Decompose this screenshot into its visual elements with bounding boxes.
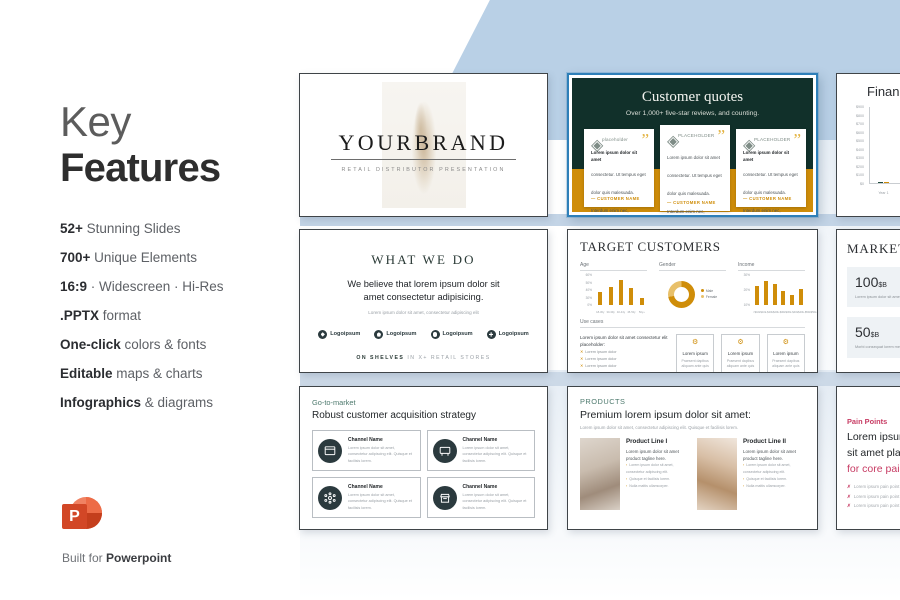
financial-title: Financial	[867, 84, 900, 99]
gender-legend-swatch	[701, 295, 704, 298]
target-card-text: Praesent dapibus aliquam ante quis	[771, 359, 801, 370]
target-gender-label: Gender	[659, 262, 726, 271]
age-x-label: 45-50y	[626, 311, 636, 314]
income-bar	[755, 286, 759, 305]
financial-bar-chart: $900$800$700$600$500$400$300$200$100$0 Y…	[845, 107, 900, 198]
products-kicker: PRODUCTS	[580, 397, 805, 406]
income-bar	[773, 284, 777, 305]
age-bar	[598, 292, 602, 305]
market-stat-box: 50$BMorbi consequat lorem metus ut effic…	[847, 317, 900, 357]
target-usecase-text: Lorem ipsum dolor sit amet consectetur e…	[580, 334, 668, 373]
quote-logo-label: PLACEHOLDER	[754, 137, 790, 142]
income-y-tick: 30%	[744, 273, 750, 277]
wwd-footer: ON SHELVES IN X+ RETAIL STORES	[300, 355, 547, 361]
financial-bar	[884, 182, 889, 183]
slide-thumbnail-what-we-do[interactable]: WHAT WE DO We believe that lorem ipsum d…	[299, 229, 548, 373]
painpoint-bullet-label: Lorem ipsum pain point	[854, 503, 900, 508]
slide-thumbnail-products[interactable]: PRODUCTS Premium lorem ipsum dolor sit a…	[567, 386, 818, 530]
target-usecase-bullet-icon: ✕	[580, 364, 583, 368]
target-age-block: Age 60%50%40%30%0% 18-30y30-39y40-44y45-…	[580, 262, 647, 313]
gtm-channel-card: Channel NameLorem ipsum dolor sit amet, …	[312, 477, 421, 518]
financial-y-tick: $400	[856, 148, 864, 152]
target-usecases-label: Use cases	[580, 319, 805, 328]
market-stat-number: 50$B	[855, 324, 900, 340]
gtm-channel-card: Channel NameLorem ipsum dolor sit amet, …	[312, 430, 421, 471]
income-bars	[753, 277, 805, 305]
target-usecase-item-label: Lorem ipsum dolor	[585, 364, 616, 368]
feature-item-bold-4: One-click	[60, 337, 121, 352]
income-x-label: <$10k	[753, 311, 760, 314]
wwd-logo-icon	[374, 330, 383, 339]
product-bullet-icon: ›	[743, 463, 744, 467]
gtm-card-name: Channel Name	[463, 484, 530, 490]
target-usecase-item: ✕Lorem ipsum dolor	[580, 363, 668, 370]
product-bullet-label: Quisque et facilisis lorem.	[746, 477, 787, 481]
age-y-tick: 0%	[587, 303, 592, 307]
income-x-label: $20k-$30k	[773, 311, 786, 314]
income-x-label: $10k-$20k	[760, 311, 773, 314]
age-y-tick: 30%	[586, 296, 592, 300]
income-bar	[764, 281, 768, 305]
income-x-label: $40k-$50k	[798, 311, 811, 314]
income-y-tick: 20%	[744, 288, 750, 292]
powerpoint-badge: P Built for Powerpoint	[62, 497, 171, 565]
powerpoint-icon: P	[62, 497, 102, 537]
target-usecase-card: ⚙Lorem ipsumPraesent dapibus aliquam ant…	[721, 334, 759, 373]
income-x-label: $50k+	[811, 311, 818, 314]
gtm-card-text: Channel NameLorem ipsum dolor sit amet, …	[463, 484, 530, 511]
painpoints-title-a: Lorem ipsum dolor	[847, 430, 900, 446]
product-bullet-label: Lorem ipsum dolor sit amet, consectetur …	[743, 463, 791, 474]
wwd-lead-line-2: amet consectetur adipisicing.	[300, 291, 547, 304]
painpoint-bullet-label: Lorem ipsum pain point	[854, 484, 900, 489]
wwd-logo-row: LogoipsumLogoipsumLogoipsumLogoipsum	[300, 330, 547, 339]
wwd-logo-label: Logoipsum	[499, 331, 529, 337]
product-tagline: Lorem ipsum dolor sit amet product tagli…	[743, 448, 805, 462]
quote-card-strong: Lorem ipsum dolor sit amet	[591, 150, 647, 163]
age-x-label: 30-39y	[605, 311, 615, 314]
age-bar-chart: 60%50%40%30%0% 18-30y30-39y40-44y45-50y5…	[580, 275, 647, 313]
quote-logo-icon: ◈	[743, 135, 751, 143]
age-y-axis: 60%50%40%30%0%	[580, 275, 593, 305]
powerpoint-caption-plain: Built for	[62, 551, 106, 565]
target-income-label: Income	[738, 262, 805, 271]
feature-item-0: 52+ Stunning Slides	[60, 222, 300, 236]
product-bullet-label: Lorem ipsum dolor sit amet, consectetur …	[626, 463, 674, 474]
slide-thumbnail-go-to-market[interactable]: Go-to-market Robust customer acquisition…	[299, 386, 548, 530]
market-stat-box: 100$BLorem ipsum dolor sit amet, consect…	[847, 267, 900, 307]
market-stat-unit: $B	[871, 332, 880, 339]
gtm-card-name: Channel Name	[348, 484, 415, 490]
wwd-logo-item: Logoipsum	[374, 330, 416, 339]
product-bullet-icon: ›	[626, 463, 627, 467]
market-stat-unit: $B	[878, 282, 887, 289]
gtm-card-desc: Lorem ipsum dolor sit amet, consectetur …	[463, 492, 530, 511]
wwd-logo-icon	[431, 330, 440, 339]
slide-thumbnail-financial[interactable]: Financial $900$800$700$600$500$400$300$2…	[836, 73, 900, 217]
wwd-lead-line-1: We believe that lorem ipsum dolor sit	[300, 278, 547, 291]
browser-icon	[318, 439, 342, 463]
painpoint-bullet-icon: ✗	[847, 484, 851, 489]
target-title: TARGET CUSTOMERS	[580, 239, 805, 255]
painpoint-bullet: ✗Lorem ipsum pain point	[847, 501, 900, 510]
title-line-features: Features	[60, 146, 220, 190]
wwd-logo-icon	[318, 330, 327, 339]
product-bullet: ›Quisque et facilisis lorem.	[743, 476, 805, 483]
feature-item-rest-6: & diagrams	[141, 395, 213, 410]
target-usecase-item-label: Lorem ipsum dolor	[585, 350, 616, 354]
gtm-kicker: Go-to-market	[312, 398, 535, 407]
left-info-panel: Key Features 52+ Stunning Slides700+ Uni…	[0, 0, 300, 600]
wwd-logo-label: Logoipsum	[443, 331, 473, 337]
painpoint-bullet-icon: ✗	[847, 494, 851, 499]
gender-donut	[668, 281, 695, 308]
quote-logo-icon: ◈	[667, 131, 675, 139]
product-image	[697, 438, 737, 510]
income-bar	[790, 295, 794, 305]
target-gender-block: Gender MaleFemale	[659, 262, 726, 313]
wwd-footer-bold: ON SHELVES	[356, 355, 404, 361]
target-usecase-bullet-icon: ✕	[580, 350, 583, 354]
wwd-logo-label: Logoipsum	[386, 331, 416, 337]
feature-item-rest-3: format	[99, 308, 141, 323]
target-usecases-row: Lorem ipsum dolor sit amet consectetur e…	[580, 334, 805, 373]
painpoint-bullet-icon: ✗	[847, 503, 851, 508]
target-usecase-card: ⚙Lorem ipsumPraesent dapibus aliquam ant…	[767, 334, 805, 373]
powerpoint-icon-letter: P	[62, 504, 87, 529]
age-y-tick: 40%	[586, 288, 592, 292]
gtm-title: Robust customer acquisition strategy	[312, 410, 535, 421]
financial-y-tick: $0	[860, 182, 864, 186]
product-bullet: ›Nulla mattis ullamcorper.	[626, 483, 688, 490]
product-item: Product Line IILorem ipsum dolor sit ame…	[697, 438, 805, 510]
financial-bar-group: Year 1	[878, 182, 889, 183]
painpoints-kicker: Pain Points	[847, 417, 900, 426]
painpoints-title: Lorem ipsum dolor sit amet placeholder f…	[847, 430, 900, 477]
product-item: Product Line ILorem ipsum dolor sit amet…	[580, 438, 688, 510]
gender-legend-item: Female	[701, 294, 717, 300]
market-stat-text: Lorem ipsum dolor sit amet, consectetur …	[855, 294, 900, 300]
target-card-text: Praesent dapibus aliquam ante quis	[725, 359, 755, 370]
quote-card-logo: ◈PLACEHOLDER	[743, 135, 799, 143]
store-icon	[433, 486, 457, 510]
quote-card-list: ◈placeholder”Lorem ipsum dolor sit ametc…	[584, 125, 801, 210]
quote-card-customer: — CUSTOMER NAME	[743, 196, 792, 201]
age-y-tick: 50%	[586, 281, 592, 285]
wwd-small-text: Lorem ipsum dolor sit amet, consectetur …	[300, 310, 547, 315]
painpoints-title-c: for core pains	[847, 462, 900, 478]
market-stat-text: Morbi consequat lorem metus ut efficitur…	[855, 344, 900, 350]
income-x-label: $30k-$40k	[786, 311, 799, 314]
quote-logo-label: placeholder	[602, 137, 628, 142]
gtm-card-text: Channel NameLorem ipsum dolor sit amet, …	[463, 437, 530, 464]
gtm-card-name: Channel Name	[463, 437, 530, 443]
income-bar	[781, 291, 785, 305]
age-x-label: 50y+	[637, 311, 647, 314]
wwd-logo-item: Logoipsum	[318, 330, 360, 339]
gtm-card-text: Channel NameLorem ipsum dolor sit amet, …	[348, 484, 415, 511]
powerpoint-caption: Built for Powerpoint	[62, 551, 171, 565]
brand-divider	[331, 159, 516, 160]
age-bar	[619, 280, 623, 305]
market-title: MARKET	[847, 241, 900, 257]
quote-card-logo: ◈PLACEHOLDER	[667, 131, 723, 139]
quote-card: ◈PLACEHOLDER”Lorem ipsum dolor sit ametc…	[736, 129, 806, 207]
gtm-channel-card: Channel NameLorem ipsum dolor sit amet, …	[427, 430, 536, 471]
wwd-footer-rest: IN X+ RETAIL STORES	[404, 355, 490, 361]
quotes-title: Customer quotes	[572, 89, 813, 106]
age-bar	[609, 287, 613, 305]
quote-card: ◈PLACEHOLDER”Lorem ipsum dolor sit amet …	[660, 125, 730, 211]
target-usecase-item: ✕Lorem ipsum dolor	[580, 356, 668, 363]
feature-item-bold-6: Infographics	[60, 395, 141, 410]
feature-item-rest-1: Unique Elements	[90, 250, 197, 265]
quote-card-body: Lorem ipsum dolor sit amet consectetur. …	[667, 146, 723, 217]
product-name: Product Line II	[743, 438, 805, 445]
gtm-card-desc: Lorem ipsum dolor sit amet, consectetur …	[348, 492, 415, 511]
target-card-icon: ⚙	[771, 339, 801, 346]
feature-item-rest-4: colors & fonts	[121, 337, 207, 352]
income-y-axis: 30%20%10%	[738, 275, 751, 305]
income-y-tick: 10%	[744, 303, 750, 307]
gender-legend-label: Male	[706, 289, 713, 293]
target-usecase-items: ✕Lorem ipsum dolor✕Lorem ipsum dolor✕Lor…	[580, 349, 668, 371]
product-name: Product Line I	[626, 438, 688, 445]
slide-thumbnail-market[interactable]: MARKET 100$BLorem ipsum dolor sit amet, …	[836, 229, 900, 373]
quotes-subtitle: Over 1,000+ five-star reviews, and count…	[572, 110, 813, 117]
painpoints-bullets: ✗Lorem ipsum pain point✗Lorem ipsum pain…	[847, 482, 900, 510]
target-usecase-heading: Lorem ipsum dolor sit amet consectetur e…	[580, 334, 668, 349]
feature-item-6: Infographics & diagrams	[60, 396, 300, 410]
income-x-labels: <$10k$10k-$20k$20k-$30k$30k-$40k$40k-$50…	[753, 311, 805, 314]
financial-y-tick: $600	[856, 131, 864, 135]
products-subtitle: Lorem ipsum dolor sit amet, consectetur …	[580, 425, 805, 430]
wwd-lead: We believe that lorem ipsum dolor sit am…	[300, 278, 547, 305]
brand-title: YOURBRAND	[300, 130, 547, 156]
billboard-icon	[433, 439, 457, 463]
target-card-icon: ⚙	[680, 339, 710, 346]
products-title: Premium lorem ipsum dolor sit amet:	[580, 409, 805, 421]
target-card-title: Lorem ipsum	[771, 351, 801, 356]
financial-bar	[878, 182, 883, 183]
painpoint-bullet: ✗Lorem ipsum pain point	[847, 482, 900, 491]
financial-y-tick: $900	[856, 105, 864, 109]
product-line-row: Product Line ILorem ipsum dolor sit amet…	[580, 438, 805, 510]
slide-thumbnail-pain-points[interactable]: Pain Points Lorem ipsum dolor sit amet p…	[836, 386, 900, 530]
product-bullet-label: Nulla mattis ullamcorper.	[629, 484, 668, 488]
target-chart-row: Age 60%50%40%30%0% 18-30y30-39y40-44y45-…	[580, 262, 805, 313]
income-bar-chart: 30%20%10% <$10k$10k-$20k$20k-$30k$30k-$4…	[738, 275, 805, 313]
product-bullet: ›Lorem ipsum dolor sit amet, consectetur…	[626, 462, 688, 476]
slide-thumbnail-target-customers[interactable]: TARGET CUSTOMERS Age 60%50%40%30%0% 18-3…	[567, 229, 818, 373]
feature-item-rest-0: Stunning Slides	[83, 221, 181, 236]
target-usecase-bullet-icon: ✕	[580, 357, 583, 361]
quote-card-body: Lorem ipsum dolor sit ametconsectetur. U…	[743, 150, 799, 217]
target-usecase-item: ✕Lorem ipsum dolor	[580, 349, 668, 356]
quote-card-text: consectetur. Ut tempus eget dolor quis m…	[591, 172, 646, 217]
financial-y-axis: $900$800$700$600$500$400$300$200$100$0	[845, 107, 867, 184]
slide-thumbnail-yourbrand[interactable]: YOURBRAND RETAIL DISTRIBUTOR PRESENTATIO…	[299, 73, 548, 217]
gtm-card-desc: Lorem ipsum dolor sit amet, consectetur …	[463, 445, 530, 464]
target-usecase-card: ⚙Lorem ipsumPraesent dapibus aliquam ant…	[676, 334, 714, 373]
age-x-label: 18-30y	[595, 311, 605, 314]
financial-x-label: Year 1	[878, 191, 888, 195]
feature-item-rest-5: maps & charts	[113, 366, 203, 381]
market-stat-number: 100$B	[855, 274, 900, 290]
income-bar	[799, 289, 803, 305]
financial-y-tick: $500	[856, 139, 864, 143]
gtm-channel-grid: Channel NameLorem ipsum dolor sit amet, …	[312, 430, 535, 518]
painpoints-title-b: sit amet placeholder	[847, 446, 900, 462]
gtm-card-name: Channel Name	[348, 437, 415, 443]
wwd-logo-label: Logoipsum	[330, 331, 360, 337]
gtm-card-text: Channel NameLorem ipsum dolor sit amet, …	[348, 437, 415, 464]
quote-card-customer: — CUSTOMER NAME	[591, 196, 640, 201]
financial-y-tick: $100	[856, 173, 864, 177]
feature-item-bold-2: 16:9	[60, 279, 87, 294]
wwd-logo-item: Logoipsum	[431, 330, 473, 339]
feature-item-bold-3: .PPTX	[60, 308, 99, 323]
quote-card-logo: ◈placeholder	[591, 135, 647, 143]
age-x-label: 40-44y	[616, 311, 626, 314]
age-x-labels: 18-30y30-39y40-44y45-50y50y+	[595, 311, 647, 314]
title-line-key: Key	[60, 100, 220, 144]
painpoint-bullet: ✗Lorem ipsum pain point	[847, 492, 900, 501]
gender-legend-label: Female	[706, 295, 717, 299]
financial-y-tick: $800	[856, 114, 864, 118]
target-card-icon: ⚙	[725, 339, 755, 346]
age-bar	[629, 288, 633, 305]
age-bars	[595, 277, 647, 305]
product-tagline: Lorem ipsum dolor sit amet product tagli…	[626, 448, 688, 462]
quote-card-customer: — CUSTOMER NAME	[667, 200, 716, 205]
product-bullet: ›Nulla mattis ullamcorper.	[743, 483, 805, 490]
age-y-tick: 60%	[586, 273, 592, 277]
gender-legend: MaleFemale	[701, 288, 717, 301]
product-bullet-icon: ›	[626, 477, 627, 481]
feature-item-rest-2: · Widescreen · Hi-Res	[87, 279, 224, 294]
quote-mark-icon: ”	[641, 131, 649, 148]
financial-plot-area: Year 1Year 2Year 3Year 4	[869, 107, 900, 184]
quote-logo-icon: ◈	[591, 135, 599, 143]
feature-item-bold-5: Editable	[60, 366, 113, 381]
product-bullet-label: Quisque et facilisis lorem.	[629, 477, 670, 481]
product-bullet-icon: ›	[626, 484, 627, 488]
target-usecase-item-label: Lorem ipsum dolor	[585, 357, 616, 361]
wwd-logo-item: Logoipsum	[487, 330, 529, 339]
feature-item-1: 700+ Unique Elements	[60, 251, 300, 265]
feature-item-5: Editable maps & charts	[60, 367, 300, 381]
quote-mark-icon: ”	[793, 131, 801, 148]
target-card-text: Praesent dapibus aliquam ante quis	[680, 359, 710, 370]
quote-mark-icon: ”	[717, 127, 725, 144]
gtm-channel-card: Channel NameLorem ipsum dolor sit amet, …	[427, 477, 536, 518]
slide-thumbnail-customer-quotes[interactable]: Customer quotes Over 1,000+ five-star re…	[567, 73, 818, 217]
feature-item-bold-0: 52+	[60, 221, 83, 236]
wwd-title: WHAT WE DO	[300, 252, 547, 268]
feature-item-4: One-click colors & fonts	[60, 338, 300, 352]
brand-subtitle: RETAIL DISTRIBUTOR PRESENTATION	[300, 167, 547, 173]
quote-card-text: Lorem ipsum dolor sit amet consectetur. …	[667, 155, 722, 217]
page-title: Key Features	[60, 100, 220, 190]
feature-item-3: .PPTX format	[60, 309, 300, 323]
feature-item-2: 16:9 · Widescreen · Hi-Res	[60, 280, 300, 294]
target-income-block: Income 30%20%10% <$10k$10k-$20k$20k-$30k…	[738, 262, 805, 313]
target-card-title: Lorem ipsum	[680, 351, 710, 356]
quote-card: ◈placeholder”Lorem ipsum dolor sit ametc…	[584, 129, 654, 207]
product-bullet: ›Lorem ipsum dolor sit amet, consectetur…	[743, 462, 805, 476]
target-card-title: Lorem ipsum	[725, 351, 755, 356]
feature-item-bold-1: 700+	[60, 250, 90, 265]
painpoint-bullet-label: Lorem ipsum pain point	[854, 494, 900, 499]
quote-card-strong: Lorem ipsum dolor sit amet	[743, 150, 799, 163]
product-text: Product Line IILorem ipsum dolor sit ame…	[743, 438, 805, 510]
powerpoint-icon-circle-dark	[86, 513, 102, 529]
gender-legend-swatch	[701, 289, 704, 292]
product-text: Product Line ILorem ipsum dolor sit amet…	[626, 438, 688, 510]
product-bullet-label: Nulla mattis ullamcorper.	[746, 484, 785, 488]
market-stat-boxes: 100$BLorem ipsum dolor sit amet, consect…	[847, 267, 900, 358]
age-bar	[640, 298, 644, 305]
financial-y-tick: $200	[856, 165, 864, 169]
wwd-logo-icon	[487, 330, 496, 339]
product-bullet-icon: ›	[743, 477, 744, 481]
target-age-label: Age	[580, 262, 647, 271]
painpoints-title-highlight: core pains	[862, 463, 900, 475]
product-image	[580, 438, 620, 510]
product-bullet: ›Quisque et facilisis lorem.	[626, 476, 688, 483]
financial-y-tick: $700	[856, 122, 864, 126]
feature-list: 52+ Stunning Slides700+ Unique Elements1…	[60, 222, 300, 425]
quote-card-text: consectetur. Ut tempus eget dolor quis m…	[743, 172, 798, 217]
gtm-card-desc: Lorem ipsum dolor sit amet, consectetur …	[348, 445, 415, 464]
quote-card-body: Lorem ipsum dolor sit ametconsectetur. U…	[591, 150, 647, 217]
target-usecase-cards: ⚙Lorem ipsumPraesent dapibus aliquam ant…	[676, 334, 805, 373]
network-icon	[318, 486, 342, 510]
gender-pie-chart: MaleFemale	[659, 275, 726, 313]
product-bullet-icon: ›	[743, 484, 744, 488]
quote-logo-label: PLACEHOLDER	[678, 133, 714, 138]
financial-y-tick: $300	[856, 156, 864, 160]
powerpoint-caption-bold: Powerpoint	[106, 551, 171, 565]
